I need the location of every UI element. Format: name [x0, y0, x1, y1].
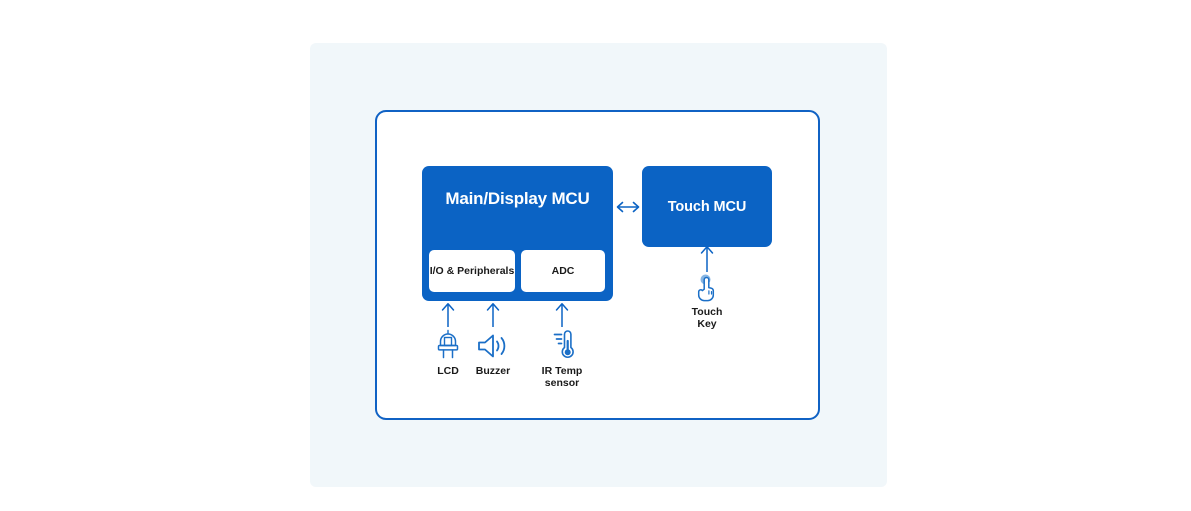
subblock-io-peripherals[interactable]: I/O & Peripherals [429, 250, 515, 292]
subblock-adc-label: ADC [552, 265, 575, 278]
arrow-up-icon [553, 302, 571, 328]
block-touch-mcu[interactable]: Touch MCU [642, 166, 772, 247]
arrow-up-icon [484, 302, 502, 328]
peripheral-ir-temp-sensor[interactable]: IR Temp sensor [525, 302, 599, 389]
peripheral-ir-temp-sensor-label: IR Temp sensor [542, 365, 583, 389]
subblock-adc[interactable]: ADC [521, 250, 605, 292]
block-main-display-mcu-label: Main/Display MCU [422, 188, 613, 210]
block-touch-mcu-label: Touch MCU [668, 199, 747, 215]
peripheral-buzzer[interactable]: Buzzer [456, 302, 530, 377]
hand-touch-icon [692, 273, 722, 303]
peripheral-buzzer-label: Buzzer [476, 365, 510, 377]
bidirectional-arrow-icon [613, 195, 643, 219]
speaker-buzzer-icon [476, 328, 510, 360]
subblock-io-peripherals-label: I/O & Peripherals [430, 265, 515, 278]
diagram-canvas: Main/Display MCU I/O & Peripherals ADC T… [0, 0, 1191, 511]
input-touch-key[interactable]: Touch Key [671, 245, 743, 330]
arrow-up-icon [439, 302, 457, 328]
arrow-up-icon [698, 245, 716, 273]
input-touch-key-label: Touch Key [692, 306, 723, 330]
thermometer-icon [548, 328, 576, 360]
